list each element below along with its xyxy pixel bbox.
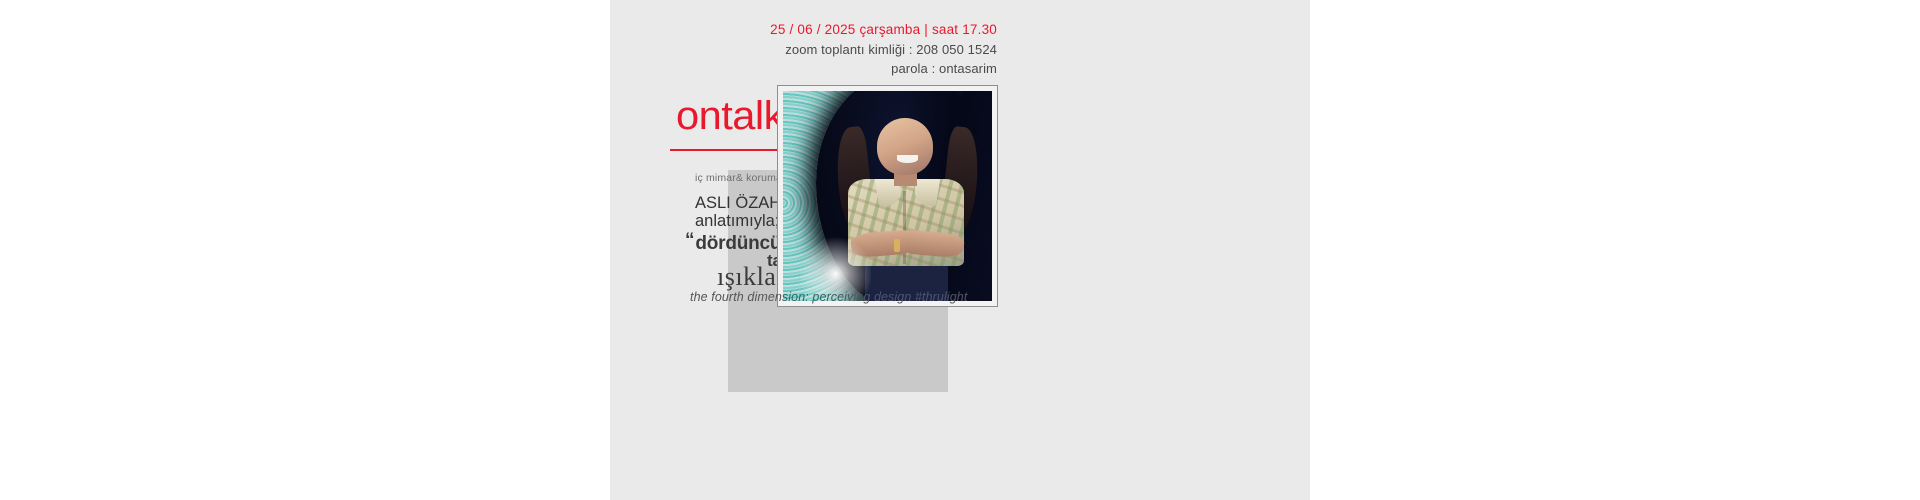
talk-subtitle-english: the fourth dimension: perceiving design …: [690, 290, 967, 304]
quote-open-mark: “: [685, 230, 694, 251]
photo-subject: [846, 118, 967, 301]
speaker-photo: [783, 91, 992, 301]
event-date-time: 25 / 06 / 2025 çarşamba | saat 17.30: [770, 21, 997, 39]
zoom-password: parola : ontasarim: [770, 60, 997, 77]
subject-smile: [897, 155, 919, 163]
event-meta-block: 25 / 06 / 2025 çarşamba | saat 17.30 zoo…: [770, 21, 997, 77]
poster-panel: 25 / 06 / 2025 çarşamba | saat 17.30 zoo…: [610, 0, 1310, 500]
zoom-meeting-id: zoom toplantı kimliği : 208 050 1524: [770, 41, 997, 58]
subject-head: [877, 118, 933, 175]
talk-title-serif-word: ışıkla: [717, 262, 776, 291]
subject-bracelet: [894, 239, 900, 252]
speaker-attribution: anlatımıyla;: [695, 212, 779, 231]
poster-root: 25 / 06 / 2025 çarşamba | saat 17.30 zoo…: [0, 0, 1920, 500]
speaker-photo-frame: [777, 85, 998, 307]
